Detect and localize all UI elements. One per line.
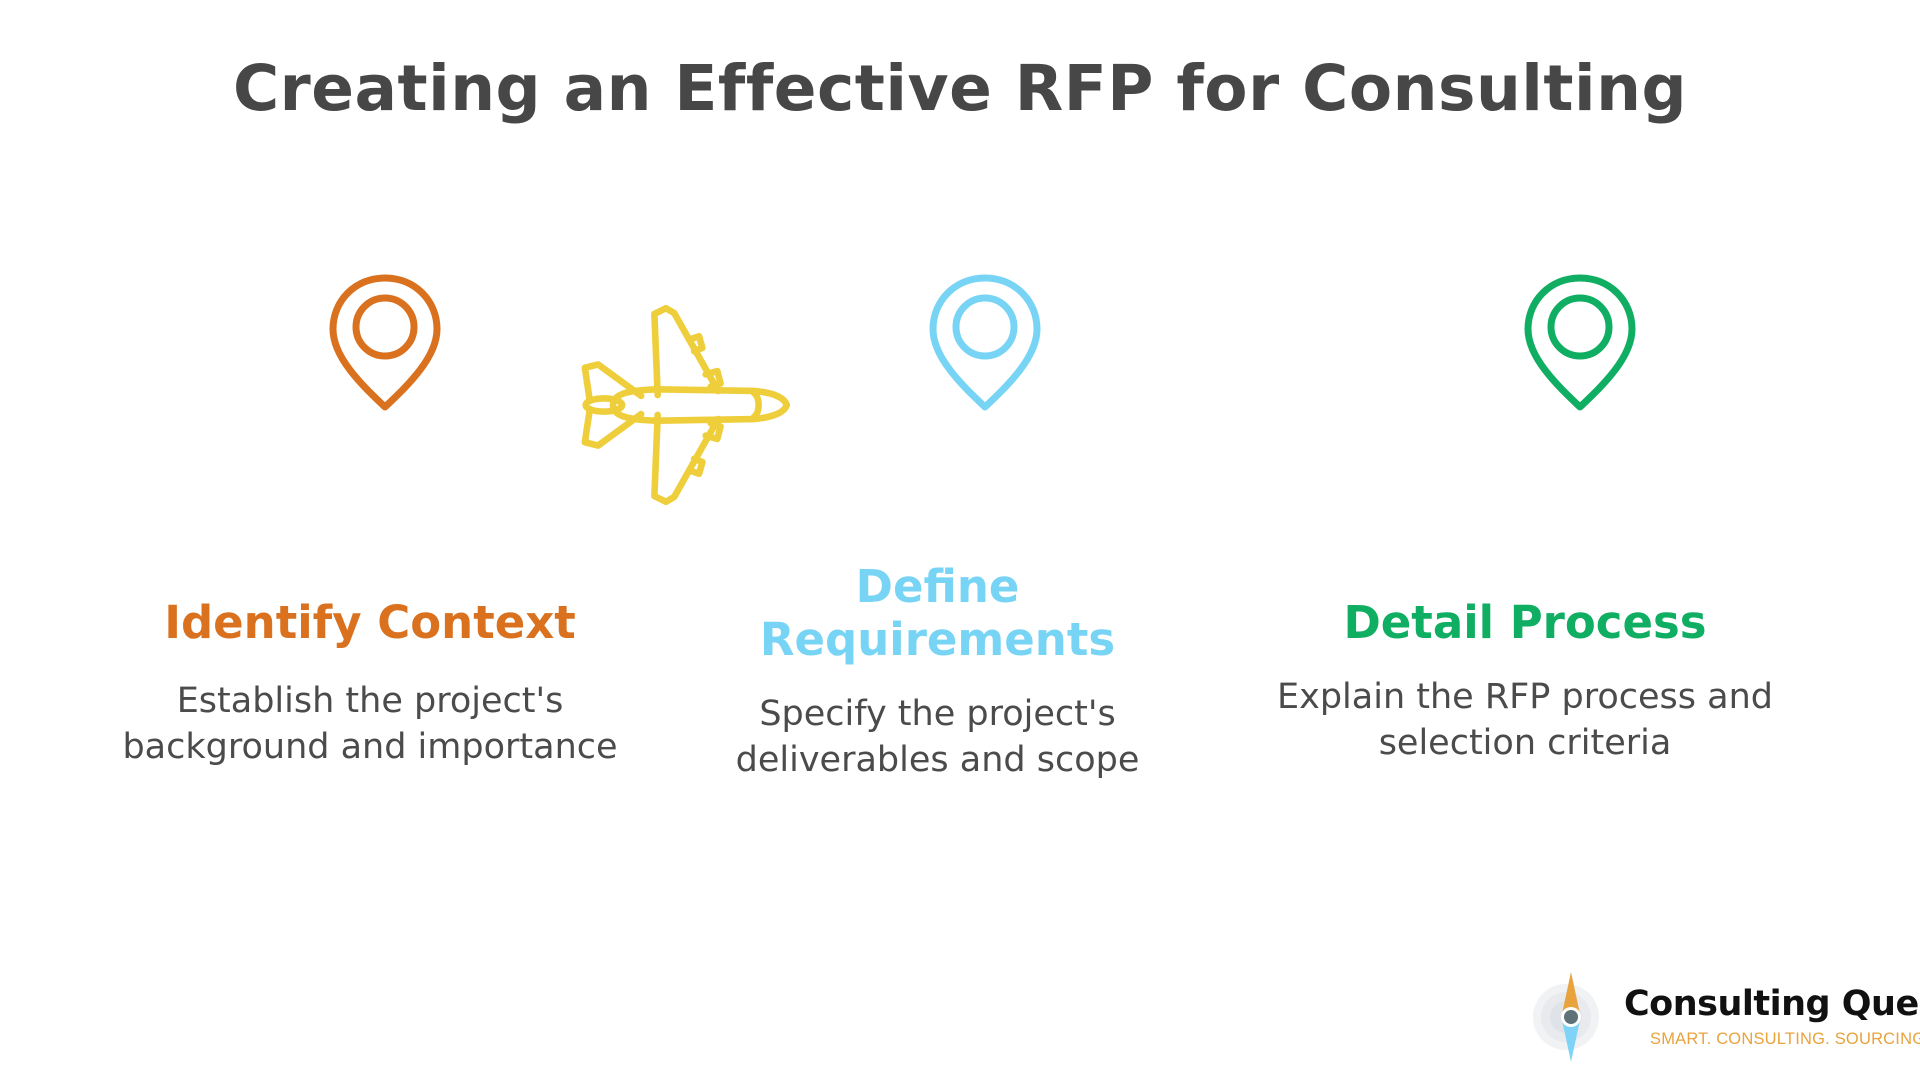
icon-slot-airplane <box>565 260 805 550</box>
column-detail-process: Detail Process Explain the RFP process a… <box>1255 560 1795 766</box>
column-identify-context: Identify Context Establish the project's… <box>95 560 645 770</box>
logo-text-block: Consulting Quest SMART. CONSULTING. SOUR… <box>1618 987 1920 1048</box>
logo-name: Consulting Quest <box>1624 987 1920 1022</box>
icon-slot-identify-context <box>265 270 505 560</box>
column-heading: Define Requirements <box>690 560 1185 666</box>
icon-slot-detail-process <box>1460 270 1700 560</box>
column-define-requirements: Define Requirements Specify the project'… <box>690 560 1185 783</box>
slide-canvas: Creating an Effective RFP for Consulting <box>0 0 1920 1080</box>
logo-tagline: SMART. CONSULTING. SOURCING. <box>1624 1022 1920 1048</box>
column-body: Establish the project's background and i… <box>95 649 645 770</box>
brand-logo: Consulting Quest SMART. CONSULTING. SOUR… <box>1530 968 1900 1066</box>
compass-needle-icon <box>1530 968 1618 1066</box>
icon-slot-define-requirements <box>865 270 1105 560</box>
column-heading: Detail Process <box>1255 560 1795 649</box>
column-body: Specify the project's deliverables and s… <box>690 666 1185 783</box>
map-pin-icon-blue <box>925 270 1045 415</box>
column-heading: Identify Context <box>95 560 645 649</box>
map-pin-icon-green <box>1520 270 1640 415</box>
page-title: Creating an Effective RFP for Consulting <box>0 52 1920 125</box>
airplane-icon <box>565 260 805 550</box>
columns-container: Identify Context Establish the project's… <box>0 560 1920 890</box>
icon-row <box>0 270 1920 560</box>
column-body: Explain the RFP process and selection cr… <box>1255 649 1795 766</box>
map-pin-icon-orange <box>325 270 445 415</box>
